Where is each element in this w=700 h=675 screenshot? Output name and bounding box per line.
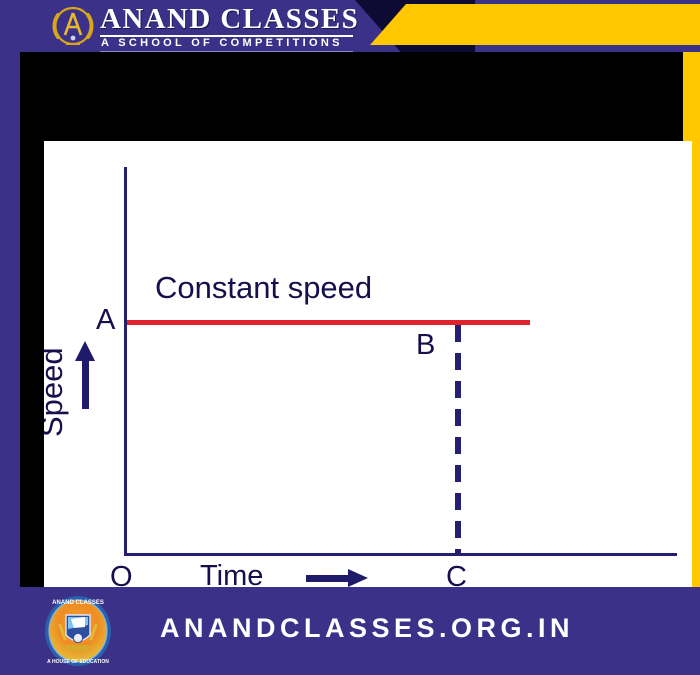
slide-canvas: ANAND TECHNICAL PUBLISHERS ANAND CLASSES… (0, 0, 700, 675)
svg-text:A HOUSE OF EDUCATION: A HOUSE OF EDUCATION (47, 659, 109, 665)
y-axis-label-speed: Speed (44, 347, 70, 437)
x-axis-line (124, 553, 677, 556)
publisher-banner: ANAND TECHNICAL PUBLISHERS (370, 4, 700, 45)
point-label-a: A (96, 304, 115, 337)
anand-classes-badge-icon: ANAND CLASSES A HOUSE OF EDUCATION (38, 595, 118, 667)
chart-title-constant-speed: Constant speed (155, 270, 372, 306)
speed-direction-arrow-icon (78, 341, 92, 409)
constant-speed-line (127, 320, 530, 325)
brand-title: ANAND CLASSES (100, 3, 359, 36)
footer-bar: ANAND CLASSES A HOUSE OF EDUCATION ANAND… (0, 587, 700, 675)
dashed-drop-line-bc (455, 325, 461, 555)
time-direction-arrow-icon (306, 573, 368, 583)
header-bar: ANAND TECHNICAL PUBLISHERS ANAND CLASSES… (0, 0, 700, 52)
left-purple-strip (0, 52, 20, 587)
svg-text:ANAND CLASSES: ANAND CLASSES (52, 600, 104, 606)
y-axis-line (124, 167, 127, 555)
speed-time-graph: Constant speed A B C O Time Speed (44, 141, 692, 610)
chart-frame: Constant speed A B C O Time Speed (20, 52, 683, 587)
anand-classes-crest-icon (50, 5, 96, 49)
point-label-b: B (416, 329, 435, 362)
footer-website-url[interactable]: ANANDCLASSES.ORG.IN (160, 613, 574, 644)
brand-subtitle: A SCHOOL OF COMPETITIONS (101, 37, 343, 49)
